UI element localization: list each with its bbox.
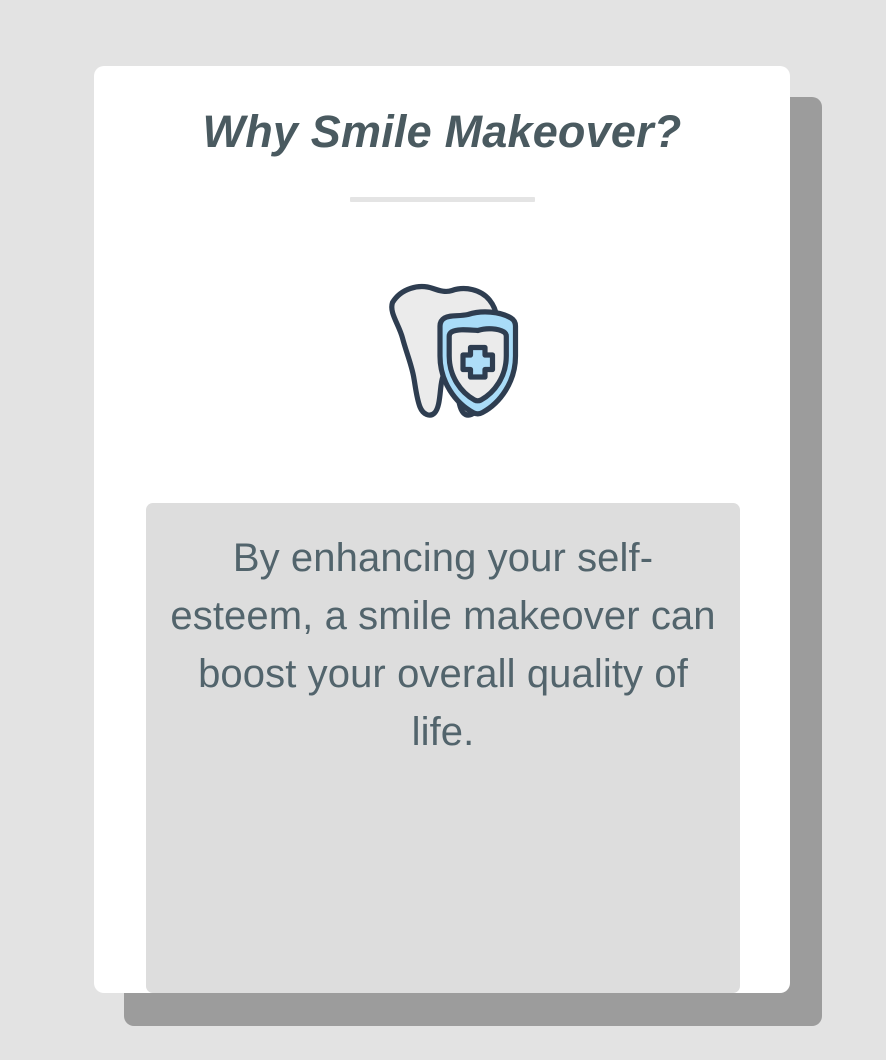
title-divider (350, 197, 535, 202)
page-title: Why Smile Makeover? (94, 107, 790, 157)
tooth-shield-icon (365, 277, 525, 427)
info-card: Why Smile Makeover? By enhancing your se… (94, 66, 790, 993)
body-text: By enhancing your self-esteem, a smile m… (166, 529, 720, 761)
content-panel: By enhancing your self-esteem, a smile m… (146, 503, 740, 993)
slide-canvas: Why Smile Makeover? By enhancing your se… (0, 0, 886, 1060)
